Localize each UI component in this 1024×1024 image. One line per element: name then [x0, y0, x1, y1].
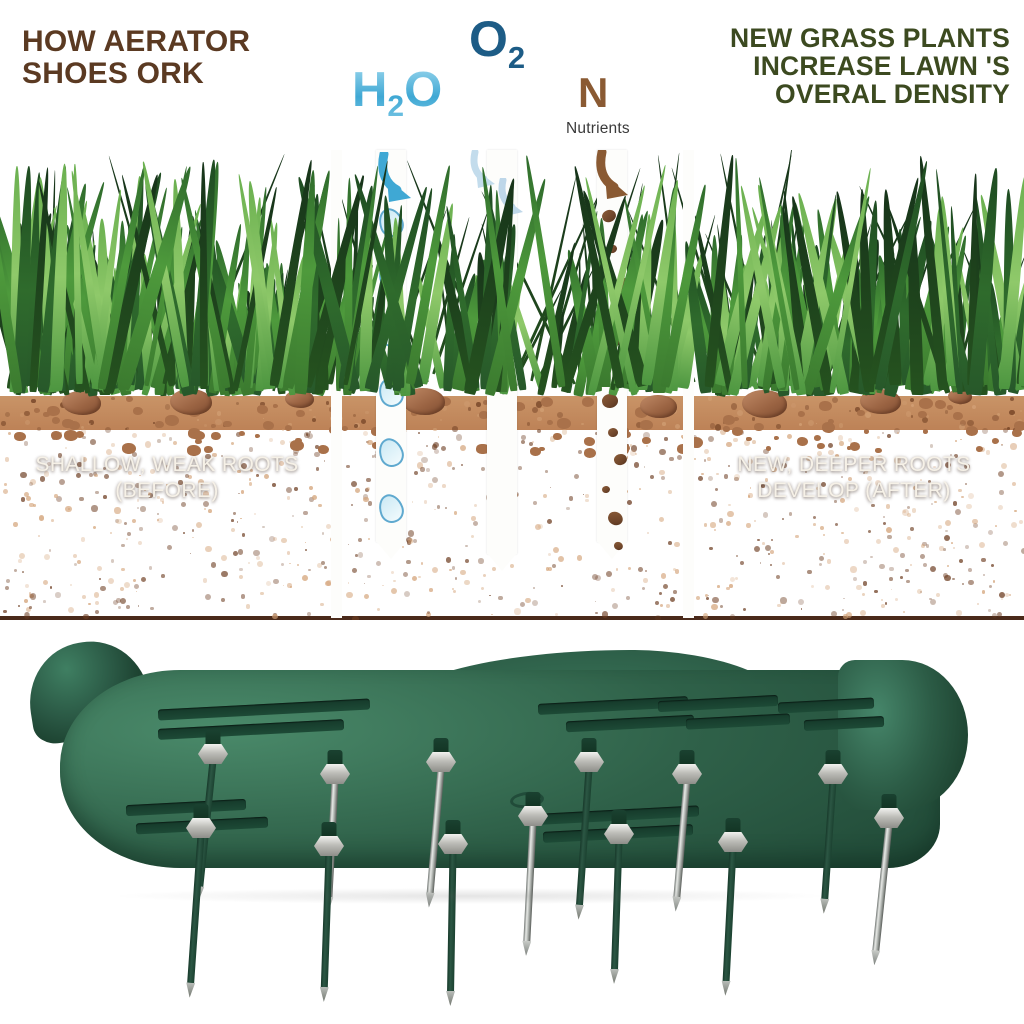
soil-speck — [578, 450, 582, 454]
soil-speck — [489, 595, 491, 597]
soil-speck — [145, 441, 151, 447]
soil-speck — [955, 440, 957, 442]
soil-pebble — [195, 439, 202, 444]
soil-speck — [666, 604, 670, 608]
soil-speck — [862, 593, 865, 596]
soil-speck — [404, 591, 410, 597]
soil-speck — [968, 580, 973, 585]
soil-speck — [33, 504, 35, 506]
nutrient-pellet — [613, 453, 628, 467]
grass-blade — [199, 162, 207, 389]
soil-speck — [134, 584, 139, 589]
soil-speck — [763, 512, 769, 518]
soil-speck — [828, 443, 833, 448]
soil-pebble — [285, 425, 292, 431]
water-droplet — [375, 435, 407, 470]
soil-speck — [634, 462, 640, 468]
soil-speck — [190, 553, 192, 555]
soil-speck — [585, 499, 588, 502]
soil-speck — [454, 511, 458, 515]
soil-speck — [886, 527, 892, 533]
soil-speck — [659, 449, 665, 455]
soil-speck — [754, 520, 757, 523]
soil-speck — [382, 585, 384, 587]
soil-speck — [616, 568, 619, 571]
soil-speck — [527, 422, 530, 425]
soil-speck — [819, 556, 824, 561]
soil-speck — [88, 603, 90, 605]
soil-speck — [203, 578, 208, 583]
page-title-right: NEW GRASS PLANTS INCREASE LAWN 'S OVERAL… — [680, 24, 1010, 108]
soil-speck — [43, 600, 46, 603]
soil-speck — [364, 518, 368, 522]
soil-speck — [292, 515, 294, 517]
aerator-shoe — [18, 642, 964, 892]
soil-speck — [351, 481, 357, 487]
soil-speck — [510, 564, 514, 568]
soil-speck — [305, 549, 307, 551]
soil-speck — [302, 575, 308, 581]
soil-speck — [22, 571, 24, 573]
soil-speck — [533, 501, 537, 505]
soil-speck — [377, 608, 380, 611]
surface-rock — [640, 395, 677, 418]
soil-speck — [704, 523, 707, 526]
soil-speck — [965, 545, 969, 549]
soil-speck — [65, 506, 71, 512]
page-title-left: HOW AERATOR SHOES ORK — [22, 26, 332, 90]
soil-speck — [595, 601, 597, 603]
soil-speck — [4, 483, 7, 486]
soil-speck — [149, 566, 153, 570]
soil-speck — [995, 525, 997, 527]
soil-speck — [136, 591, 138, 593]
soil-speck — [51, 519, 54, 522]
soil-speck — [670, 597, 675, 602]
oxygen-subscript: 2 — [508, 40, 525, 75]
soil-pebble — [798, 411, 805, 417]
soil-speck — [90, 439, 96, 445]
soil-speck — [947, 565, 949, 567]
soil-speck — [417, 451, 422, 456]
soil-speck — [762, 542, 765, 545]
soil-pebble — [754, 423, 764, 431]
soil-speck — [887, 535, 892, 540]
soil-speck — [257, 561, 263, 567]
soil-speck — [3, 489, 8, 494]
soil-speck — [839, 441, 844, 446]
soil-speck — [491, 614, 493, 616]
soil-speck — [238, 549, 244, 555]
grass-layer — [0, 150, 1024, 402]
soil-speck — [65, 447, 67, 449]
soil-speck — [548, 567, 552, 571]
soil-pebble — [52, 417, 60, 424]
soil-speck — [138, 541, 142, 545]
soil-speck — [132, 519, 136, 523]
soil-speck — [558, 556, 564, 562]
soil-speck — [476, 402, 480, 406]
soil-speck — [368, 501, 372, 505]
soil-speck — [309, 409, 312, 412]
soil-speck — [97, 566, 102, 571]
soil-speck — [464, 401, 470, 407]
soil-pebble — [923, 429, 928, 433]
soil-speck — [281, 563, 284, 566]
soil-speck — [782, 562, 785, 565]
soil-speck — [981, 558, 985, 562]
soil-speck — [124, 582, 130, 588]
soil-speck — [902, 401, 906, 405]
soil-speck — [141, 577, 146, 582]
soil-speck — [456, 434, 462, 440]
soil-speck — [547, 519, 552, 524]
soil-pebble — [850, 442, 860, 450]
soil-speck — [760, 562, 762, 564]
soil-pebble — [539, 447, 545, 452]
soil-speck — [412, 576, 417, 581]
soil-pebble — [239, 431, 245, 436]
soil-speck — [989, 585, 992, 588]
soil-speck — [900, 576, 903, 579]
soil-speck — [68, 607, 74, 613]
soil-speck — [172, 525, 178, 531]
soil-speck — [703, 613, 708, 618]
soil-speck — [552, 564, 556, 568]
soil-speck — [205, 594, 211, 600]
soil-speck — [823, 534, 825, 536]
soil-speck — [910, 527, 914, 531]
soil-speck — [930, 599, 936, 605]
soil-speck — [777, 604, 780, 607]
soil-speck — [638, 567, 643, 572]
soil-speck — [798, 599, 804, 605]
caption-after-roots: NEW, DEEPER ROOTS DEVELOP (AFTER) — [694, 452, 1014, 503]
soil-speck — [883, 522, 886, 525]
water-formula-label: H2O — [352, 66, 442, 122]
soil-speck — [881, 599, 883, 601]
soil-speck — [364, 583, 366, 585]
soil-speck — [708, 436, 714, 442]
soil-speck — [376, 561, 381, 566]
soil-speck — [196, 522, 202, 528]
soil-speck — [728, 504, 731, 507]
soil-speck — [706, 597, 709, 600]
soil-pebble — [133, 407, 143, 415]
soil-speck — [674, 542, 680, 548]
soil-speck — [473, 521, 478, 526]
soil-speck — [982, 590, 985, 593]
soil-speck — [791, 403, 796, 408]
soil-speck — [441, 446, 446, 451]
soil-speck — [262, 526, 265, 529]
soil-speck — [352, 568, 357, 573]
soil-speck — [850, 566, 856, 572]
soil-speck — [372, 455, 375, 458]
soil-speck — [983, 574, 985, 576]
soil-speck — [324, 460, 326, 462]
soil-speck — [883, 516, 885, 518]
soil-speck — [126, 538, 128, 540]
soil-speck — [460, 445, 466, 451]
soil-speck — [81, 537, 85, 541]
shoe-sole-plate — [60, 670, 940, 868]
soil-speck — [628, 567, 631, 570]
soil-speck — [912, 508, 917, 513]
soil-speck — [905, 569, 908, 572]
soil-speck — [951, 542, 953, 544]
soil-speck — [414, 471, 418, 475]
soil-speck — [900, 553, 905, 558]
soil-speck — [273, 537, 277, 541]
soil-speck — [939, 546, 943, 550]
soil-speck — [889, 567, 893, 571]
soil-speck — [835, 523, 838, 526]
soil-speck — [460, 570, 466, 576]
soil-speck — [938, 525, 942, 529]
soil-speck — [465, 545, 467, 547]
soil-speck — [726, 587, 729, 590]
soil-pebble — [342, 426, 348, 431]
soil-pebble — [255, 434, 260, 438]
soil-speck — [81, 426, 84, 429]
soil-speck — [49, 549, 51, 551]
soil-pebble — [1012, 429, 1022, 437]
soil-speck — [979, 542, 985, 548]
soil-speck — [446, 557, 452, 563]
soil-speck — [936, 593, 940, 597]
soil-pebble — [51, 431, 62, 440]
soil-speck — [137, 507, 139, 509]
soil-speck — [18, 559, 22, 563]
soil-speck — [557, 412, 563, 418]
soil-speck — [464, 580, 469, 585]
soil-speck — [445, 507, 447, 509]
soil-speck — [643, 578, 648, 583]
soil-speck — [720, 605, 723, 608]
soil-speck — [953, 547, 955, 549]
soil-speck — [920, 554, 925, 559]
soil-speck — [770, 550, 774, 554]
soil-speck — [165, 404, 171, 410]
soil-speck — [819, 563, 822, 566]
soil-speck — [655, 601, 659, 605]
soil-pebble — [864, 429, 870, 433]
nutrient-symbol-label: N — [578, 72, 608, 114]
soil-speck — [393, 580, 395, 582]
soil-pebble — [155, 421, 163, 428]
soil-speck — [211, 562, 217, 568]
soil-speck — [731, 403, 737, 409]
soil-speck — [668, 490, 672, 494]
soil-pebble — [257, 405, 268, 414]
soil-speck — [100, 586, 106, 592]
soil-speck — [811, 585, 814, 588]
soil-speck — [231, 528, 235, 532]
soil-speck — [719, 518, 724, 523]
soil-speck — [308, 569, 311, 572]
soil-speck — [709, 547, 713, 551]
soil-speck — [844, 539, 849, 544]
soil-speck — [874, 590, 878, 594]
soil-speck — [50, 586, 53, 589]
soil-speck — [768, 553, 770, 555]
soil-speck — [897, 432, 899, 434]
soil-speck — [124, 522, 127, 525]
soil-speck — [192, 529, 195, 532]
soil-speck — [183, 532, 185, 534]
soil-speck — [535, 524, 541, 530]
soil-speck — [120, 587, 124, 591]
soil-pebble — [857, 410, 865, 416]
soil-speck — [930, 566, 936, 572]
soil-speck — [25, 420, 30, 425]
soil-speck — [911, 404, 914, 407]
soil-speck — [25, 584, 29, 588]
soil-speck — [675, 569, 679, 573]
soil-speck — [960, 439, 962, 441]
soil-speck — [461, 464, 463, 466]
soil-speck — [663, 584, 668, 589]
nutrient-caption: Nutrients — [566, 120, 630, 138]
soil-speck — [1009, 410, 1014, 415]
soil-speck — [644, 466, 646, 468]
soil-speck — [825, 585, 830, 590]
soil-speck — [24, 599, 28, 603]
soil-speck — [432, 444, 437, 449]
product-photo-panel — [0, 620, 1024, 1024]
soil-speck — [82, 595, 86, 599]
soil-speck — [514, 608, 520, 614]
soil-speck — [364, 594, 369, 599]
soil-speck — [221, 571, 227, 577]
soil-speck — [746, 523, 751, 528]
soil-speck — [805, 405, 810, 410]
soil-speck — [907, 513, 911, 517]
soil-speck — [673, 590, 677, 594]
soil-speck — [999, 592, 1005, 598]
soil-speck — [1003, 428, 1008, 433]
soil-speck — [945, 530, 947, 532]
soil-speck — [1011, 522, 1017, 528]
shoe-drop-shadow — [120, 888, 820, 904]
soil-speck — [346, 592, 352, 598]
soil-speck — [863, 581, 867, 585]
soil-speck — [943, 548, 946, 551]
soil-pebble — [126, 396, 133, 402]
soil-speck — [827, 559, 831, 563]
soil-speck — [239, 575, 243, 579]
soil-speck — [289, 563, 291, 565]
soil-pebble — [992, 438, 1000, 444]
soil-pebble — [723, 426, 730, 431]
soil-speck — [831, 611, 837, 617]
soil-pebble — [797, 437, 809, 446]
soil-speck — [426, 445, 428, 447]
soil-speck — [807, 570, 811, 574]
soil-speck — [231, 442, 234, 445]
soil-speck — [413, 539, 417, 543]
water-symbol-tail: O — [404, 63, 442, 117]
soil-speck — [782, 518, 784, 520]
spike-pin — [447, 851, 456, 993]
soil-speck — [1014, 510, 1016, 512]
soil-speck — [95, 601, 99, 605]
soil-speck — [437, 505, 441, 509]
soil-speck — [532, 441, 534, 443]
soil-speck — [355, 488, 360, 493]
soil-speck — [887, 434, 891, 438]
soil-speck — [434, 449, 439, 454]
soil-speck — [988, 609, 991, 612]
soil-speck — [269, 438, 273, 442]
soil-speck — [88, 423, 90, 425]
soil-speck — [14, 569, 17, 572]
soil-speck — [239, 568, 243, 572]
soil-speck — [988, 530, 993, 535]
soil-speck — [110, 532, 112, 534]
soil-speck — [921, 544, 925, 548]
soil-speck — [903, 611, 905, 613]
soil-speck — [627, 500, 632, 505]
soil-speck — [94, 592, 99, 597]
soil-speck — [553, 547, 559, 553]
soil-pebble — [642, 437, 651, 444]
soil-speck — [525, 598, 530, 603]
soil-speck — [771, 539, 773, 541]
soil-speck — [483, 574, 486, 577]
soil-speck — [787, 434, 792, 439]
soil-speck — [287, 583, 292, 588]
soil-speck — [776, 424, 781, 429]
soil-speck — [157, 439, 161, 443]
soil-speck — [280, 440, 285, 445]
soil-pebble — [935, 400, 946, 409]
soil-speck — [863, 560, 867, 564]
soil-speck — [24, 411, 29, 416]
soil-speck — [55, 592, 60, 597]
soil-speck — [865, 412, 871, 418]
soil-speck — [1010, 443, 1016, 449]
soil-speck — [952, 578, 954, 580]
soil-speck — [532, 600, 538, 606]
spike-pin — [321, 853, 333, 989]
soil-speck — [521, 435, 526, 440]
soil-speck — [432, 477, 438, 483]
soil-speck — [197, 419, 199, 421]
soil-speck — [907, 536, 911, 540]
soil-speck — [943, 573, 948, 578]
soil-speck — [24, 441, 28, 445]
soil-speck — [543, 494, 547, 498]
soil-speck — [39, 516, 44, 521]
water-droplet — [375, 491, 407, 526]
soil-speck — [242, 533, 246, 537]
soil-speck — [162, 433, 166, 437]
soil-speck — [355, 554, 358, 557]
soil-speck — [1005, 593, 1009, 597]
soil-speck — [111, 443, 115, 447]
soil-speck — [662, 422, 665, 425]
soil-speck — [726, 442, 731, 447]
soil-speck — [1009, 594, 1011, 596]
soil-speck — [192, 537, 194, 539]
soil-speck — [870, 556, 872, 558]
soil-pebble — [734, 417, 739, 421]
soil-speck — [231, 519, 234, 522]
soil-speck — [421, 457, 427, 463]
soil-speck — [455, 577, 457, 579]
